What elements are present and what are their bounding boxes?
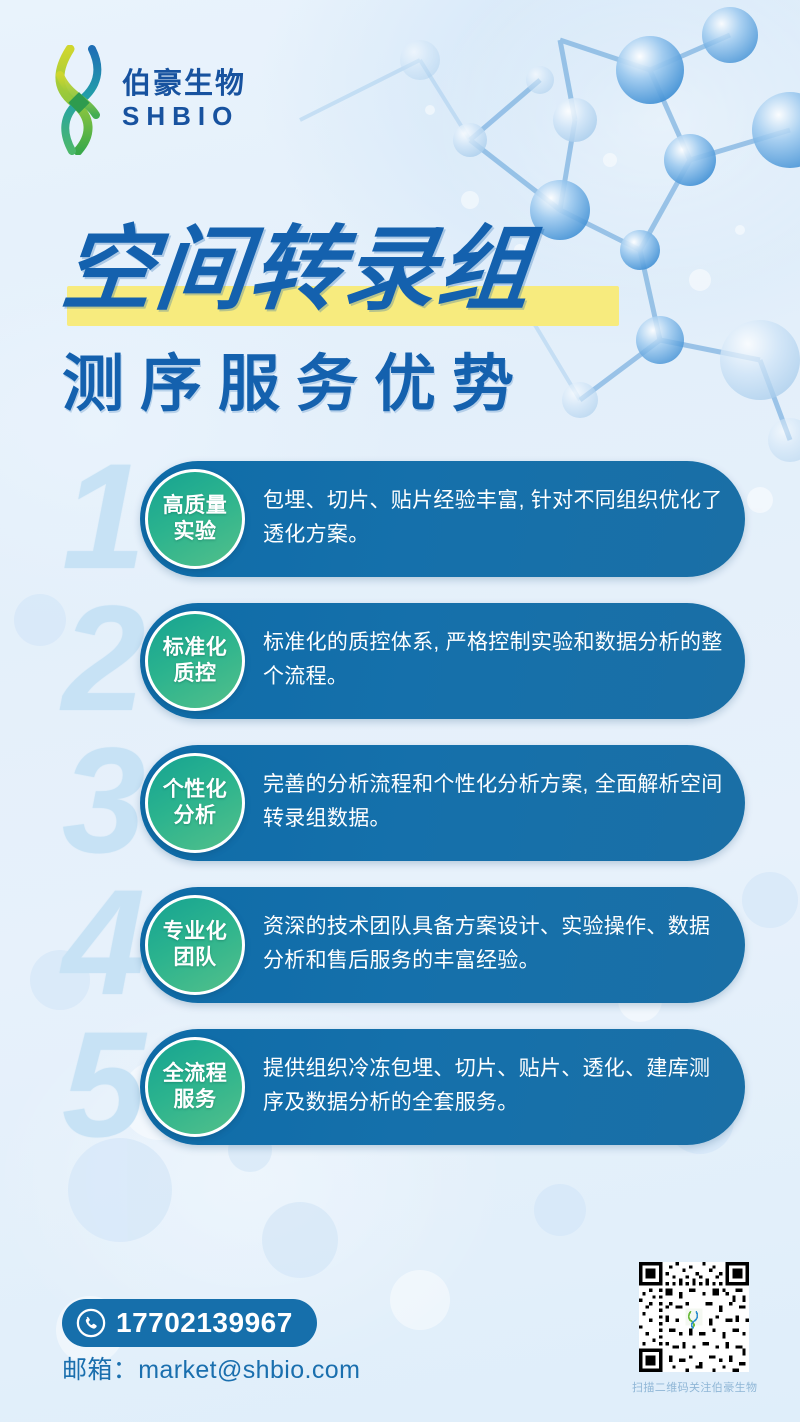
feature-number-watermark: 1 [62,441,145,591]
feature-badge: 全流程 服务 [145,1037,245,1137]
feature-badge-line2: 服务 [174,1087,217,1113]
feature-badge: 标准化 质控 [145,611,245,711]
dna-helix-logo-icon [52,45,108,155]
qr-code-block: 扫描二维码关注伯豪生物 [632,1262,756,1395]
feature-badge-line2: 团队 [174,945,217,971]
brand-name-cn: 伯豪生物 [122,68,246,100]
feature-badge-line2: 分析 [174,803,217,829]
email-contact[interactable]: 邮箱：market@shbio.com [62,1350,360,1386]
feature-description: 资深的技术团队具备方案设计、实验操作、数据分析和售后服务的丰富经验。 [263,910,723,978]
feature-item: 4 专业化 团队 资深的技术团队具备方案设计、实验操作、数据分析和售后服务的丰富… [0,881,800,1009]
main-title-wrap: 空间转录组 [62,222,742,330]
feature-number-watermark: 4 [62,867,145,1017]
qr-caption: 扫描二维码关注伯豪生物 [632,1379,756,1395]
qr-code-icon[interactable] [639,1262,749,1372]
feature-badge: 个性化 分析 [145,753,245,853]
poster-root: 伯豪生物 SHBIO 空间转录组 测序服务优势 1 高质量 实验 包埋、切片、贴… [0,0,800,1422]
feature-badge-line2: 质控 [174,661,217,687]
main-title: 空间转录组 [57,222,747,320]
feature-badge-line2: 实验 [174,519,217,545]
subtitle: 测序服务优势 [62,352,742,417]
brand-name-en: SHBIO [122,101,246,132]
feature-badge-line1: 全流程 [163,1061,228,1087]
feature-badge: 专业化 团队 [145,895,245,995]
feature-description: 提供组织冷冻包埋、切片、贴片、透化、建库测序及数据分析的全套服务。 [263,1052,723,1120]
features-list: 1 高质量 实验 包埋、切片、贴片经验丰富, 针对不同组织优化了透化方案。 2 … [0,455,800,1165]
feature-badge-line1: 个性化 [163,777,228,803]
feature-description: 包埋、切片、贴片经验丰富, 针对不同组织优化了透化方案。 [263,484,723,552]
feature-number-watermark: 3 [62,725,145,875]
feature-badge-line1: 专业化 [163,919,228,945]
feature-badge: 高质量 实验 [145,469,245,569]
phone-contact-pill[interactable]: 17702139967 [62,1299,317,1347]
feature-item: 3 个性化 分析 完善的分析流程和个性化分析方案, 全面解析空间转录组数据。 [0,739,800,867]
phone-icon [76,1308,106,1338]
feature-number-watermark: 5 [62,1009,145,1159]
feature-description: 完善的分析流程和个性化分析方案, 全面解析空间转录组数据。 [263,768,723,836]
feature-number-watermark: 2 [62,583,145,733]
phone-number: 17702139967 [116,1309,293,1337]
brand-logo: 伯豪生物 SHBIO [52,45,246,155]
feature-item: 2 标准化 质控 标准化的质控体系, 严格控制实验和数据分析的整个流程。 [0,597,800,725]
feature-item: 1 高质量 实验 包埋、切片、贴片经验丰富, 针对不同组织优化了透化方案。 [0,455,800,583]
feature-badge-line1: 标准化 [163,635,228,661]
headline-block: 空间转录组 测序服务优势 [62,222,742,417]
feature-badge-line1: 高质量 [163,493,228,519]
feature-item: 5 全流程 服务 提供组织冷冻包埋、切片、贴片、透化、建库测序及数据分析的全套服… [0,1023,800,1151]
feature-description: 标准化的质控体系, 严格控制实验和数据分析的整个流程。 [263,626,723,694]
